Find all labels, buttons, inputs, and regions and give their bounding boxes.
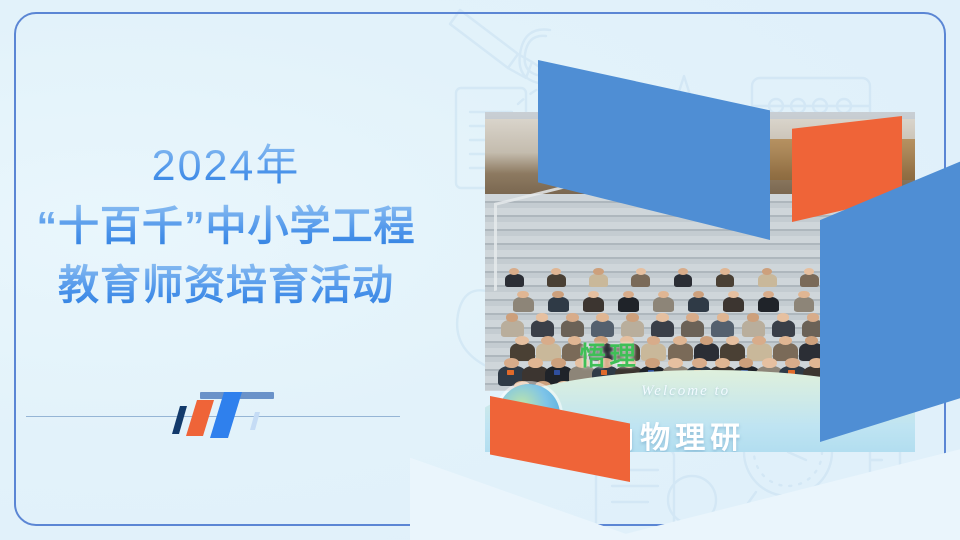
title-line-program: “十百千”中小学工程 — [0, 201, 452, 251]
title-line-year: 2024年 — [0, 140, 452, 192]
title-block: 2024年 “十百千”中小学工程 教育师资培育活动 — [0, 140, 452, 310]
slide-canvas: 悟理 Welcome to 长三角物理研 见科学 2024年 “十百千”中小学工… — [0, 0, 960, 540]
photo-collage: 悟理 Welcome to 长三角物理研 见科学 — [410, 0, 960, 540]
title-line-activity: 教育师资培育活动 — [0, 260, 452, 310]
it-logo-icon — [166, 386, 288, 444]
banner-welcome-text: Welcome to — [641, 383, 730, 400]
logo-row — [26, 392, 426, 444]
